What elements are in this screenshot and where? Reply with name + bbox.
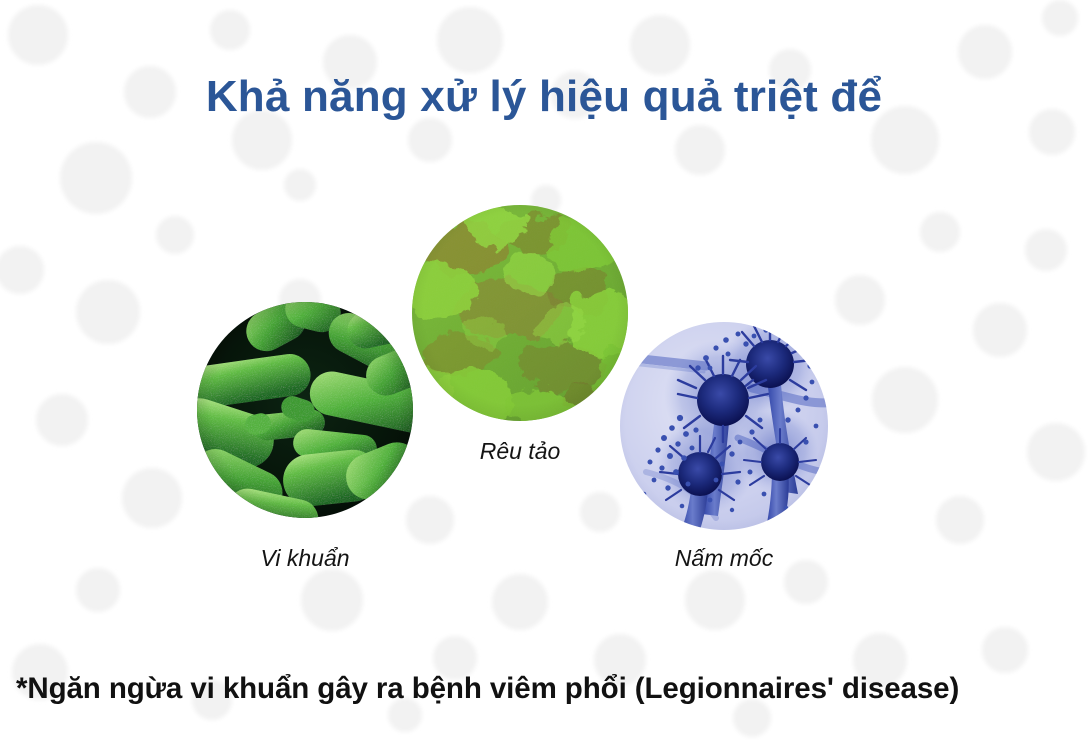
footnote-text: *Ngăn ngừa vi khuẩn gây ra bệnh viêm phổ… xyxy=(16,672,1076,706)
figure-caption-bacteria: Vi khuẩn xyxy=(197,545,413,572)
figure-image-algae xyxy=(412,205,628,421)
slide-canvas: Khả năng xử lý hiệu quả triệt để xyxy=(0,0,1088,745)
slide-title: Khả năng xử lý hiệu quả triệt để xyxy=(0,72,1088,123)
figure-caption-mold: Nấm mốc xyxy=(620,545,828,572)
figure-image-mold xyxy=(620,322,828,530)
figure-image-bacteria xyxy=(197,302,413,518)
figure-caption-algae: Rêu tảo xyxy=(412,438,628,465)
